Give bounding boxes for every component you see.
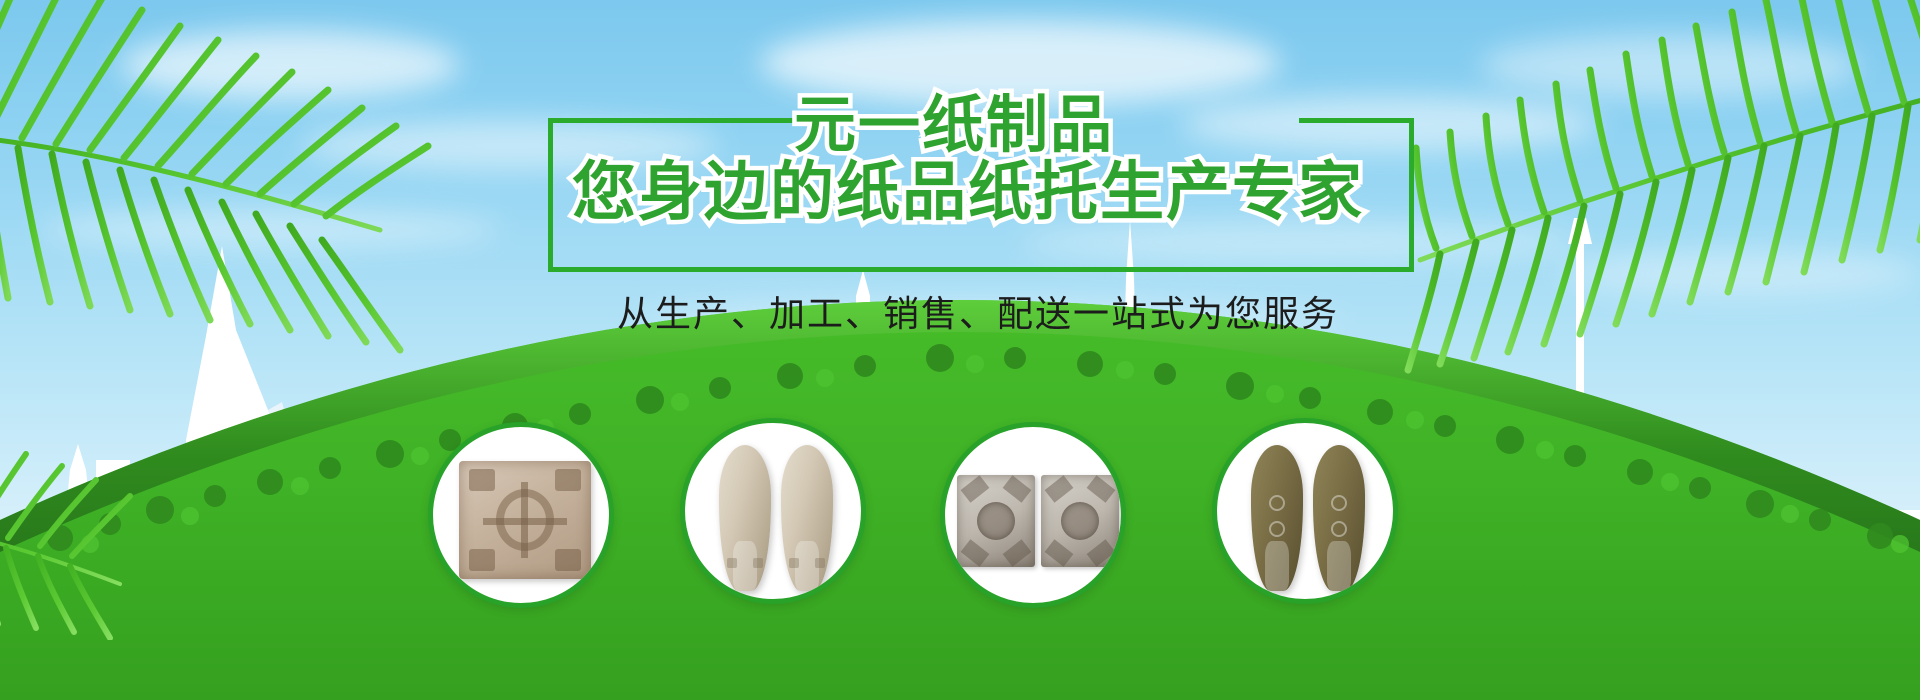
square-pulp-tray-image bbox=[433, 427, 609, 603]
pulp-packaging-blocks-image bbox=[945, 427, 1121, 603]
frame-border-bottom bbox=[548, 267, 1414, 272]
shoe-tree-right bbox=[1313, 445, 1365, 591]
brand-title: 元一纸制品 bbox=[794, 90, 1114, 162]
shoe-notch bbox=[727, 558, 737, 568]
pulp-block-spoke bbox=[961, 475, 990, 502]
tray-corner-pocket bbox=[469, 469, 495, 491]
headline-tagline: 您身边的纸品纸托生产专家 bbox=[572, 154, 1364, 230]
shoe-emboss-mark bbox=[1331, 521, 1347, 537]
product-circle-pulp-packaging-blocks[interactable] bbox=[940, 422, 1126, 608]
shoe-tree-left bbox=[1251, 445, 1303, 591]
tray-body bbox=[459, 461, 591, 579]
shoe-notch bbox=[789, 558, 799, 568]
palm-frond-icon bbox=[1340, 0, 1920, 380]
pulp-block bbox=[1041, 475, 1119, 567]
shoe-tree-pair bbox=[1251, 445, 1369, 591]
pulp-block-spoke bbox=[1087, 539, 1116, 566]
product-circle-shoe-tree-dark[interactable] bbox=[1212, 418, 1398, 604]
pulp-block-pair bbox=[957, 475, 1119, 567]
pulp-block-spoke bbox=[1003, 475, 1032, 502]
tray-corner-pocket bbox=[555, 469, 581, 491]
pulp-block-spoke bbox=[1045, 539, 1074, 566]
banner-subtitle: 从生产、加工、销售、配送一站式为您服务 bbox=[598, 292, 1358, 336]
pulp-block-spoke bbox=[1003, 539, 1032, 566]
shoe-heel bbox=[1327, 541, 1352, 591]
frame-border-right-top bbox=[1299, 118, 1414, 123]
palm-frond-icon bbox=[0, 0, 470, 360]
product-circle-shoe-tree-light[interactable] bbox=[680, 418, 866, 604]
shoe-heel bbox=[1265, 541, 1290, 591]
shoe-emboss-mark bbox=[1331, 495, 1347, 511]
tray-corner-pocket bbox=[555, 549, 581, 571]
promo-banner: 元一纸制品 您身边的纸品纸托生产专家 从生产、加工、销售、配送一站式为您服务 bbox=[0, 0, 1920, 700]
tray-rib-vertical bbox=[521, 482, 528, 558]
shoe-notch bbox=[753, 558, 763, 568]
shoe-emboss-mark bbox=[1269, 521, 1285, 537]
pulp-block-cavity bbox=[1061, 502, 1099, 540]
shoe-tree-left bbox=[719, 445, 771, 591]
palm-frond-icon bbox=[0, 360, 200, 640]
shoe-tree-right bbox=[781, 445, 833, 591]
pulp-block-spoke bbox=[1045, 475, 1074, 502]
pulp-block bbox=[957, 475, 1035, 567]
pulp-block-spoke bbox=[1087, 475, 1116, 502]
shoe-notch bbox=[815, 558, 825, 568]
paper-pulp-shoe-tree-dark-image bbox=[1217, 423, 1393, 599]
product-showcase bbox=[428, 418, 1458, 618]
tray-corner-pocket bbox=[469, 549, 495, 571]
frame-border-right bbox=[1409, 118, 1414, 272]
product-circle-square-pulp-tray[interactable] bbox=[428, 422, 614, 608]
pulp-block-cavity bbox=[977, 502, 1015, 540]
frame-border-left bbox=[548, 118, 553, 272]
paper-pulp-shoe-tree-light-image bbox=[685, 423, 861, 599]
shoe-emboss-mark bbox=[1269, 495, 1285, 511]
pulp-block-spoke bbox=[961, 539, 990, 566]
headline-frame: 元一纸制品 您身边的纸品纸托生产专家 bbox=[548, 118, 1414, 272]
shoe-tree-pair bbox=[719, 445, 837, 591]
